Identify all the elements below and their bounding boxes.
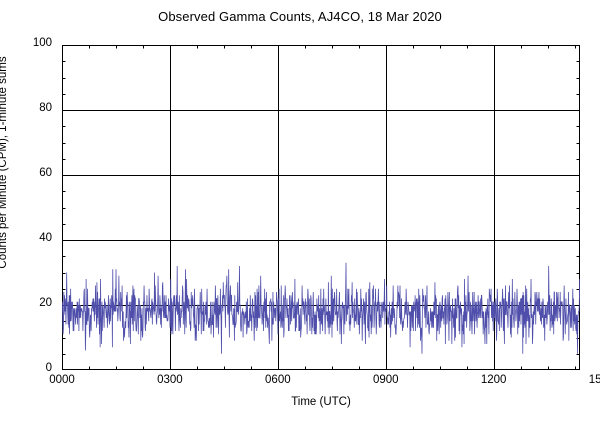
y-tick-label: 20 xyxy=(0,297,52,309)
y-tick-label: 0 xyxy=(0,362,52,374)
x-tick-label: 0900 xyxy=(364,374,408,386)
y-tick-label: 100 xyxy=(0,37,52,49)
chart-title: Observed Gamma Counts, AJ4CO, 18 Mar 202… xyxy=(0,9,600,24)
y-tick-label: 80 xyxy=(0,102,52,114)
data-series-layer xyxy=(62,263,580,354)
data-series-line xyxy=(62,263,580,354)
chart-figure: Observed Gamma Counts, AJ4CO, 18 Mar 202… xyxy=(0,0,600,428)
x-tick-label: 0000 xyxy=(40,374,84,386)
x-tick-label: 0600 xyxy=(256,374,300,386)
x-tick-label: 1500 xyxy=(580,374,600,386)
plot-canvas xyxy=(62,45,580,370)
x-axis-label: Time (UTC) xyxy=(62,396,580,408)
y-tick-label: 40 xyxy=(0,232,52,244)
plot-area xyxy=(62,45,580,370)
x-tick-label: 1200 xyxy=(472,374,516,386)
y-tick-label: 60 xyxy=(0,167,52,179)
x-tick-label: 0300 xyxy=(148,374,192,386)
